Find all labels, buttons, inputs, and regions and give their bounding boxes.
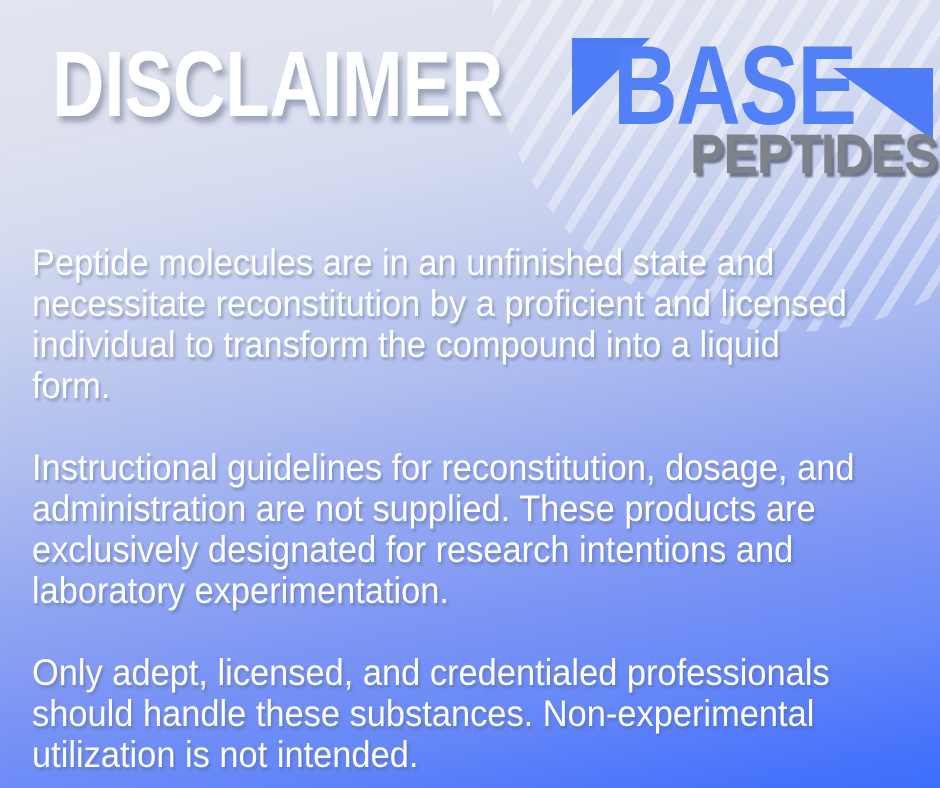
disclaimer-paragraph: Peptide molecules are in an unfinished s…: [32, 242, 855, 406]
disclaimer-slide: DISCLAIMER BASE PEPTIDES Peptide molecul…: [0, 0, 940, 788]
disclaimer-paragraph: Only adept, licensed, and credentialed p…: [32, 652, 855, 775]
disclaimer-body: Peptide molecules are in an unfinished s…: [32, 242, 917, 775]
disclaimer-paragraph: Instructional guidelines for reconstitut…: [32, 447, 855, 611]
base-peptides-logo: BASE PEPTIDES: [565, 28, 940, 183]
page-title: DISCLAIMER: [52, 36, 503, 132]
logo-subbrand-text: PEPTIDES: [690, 126, 937, 182]
